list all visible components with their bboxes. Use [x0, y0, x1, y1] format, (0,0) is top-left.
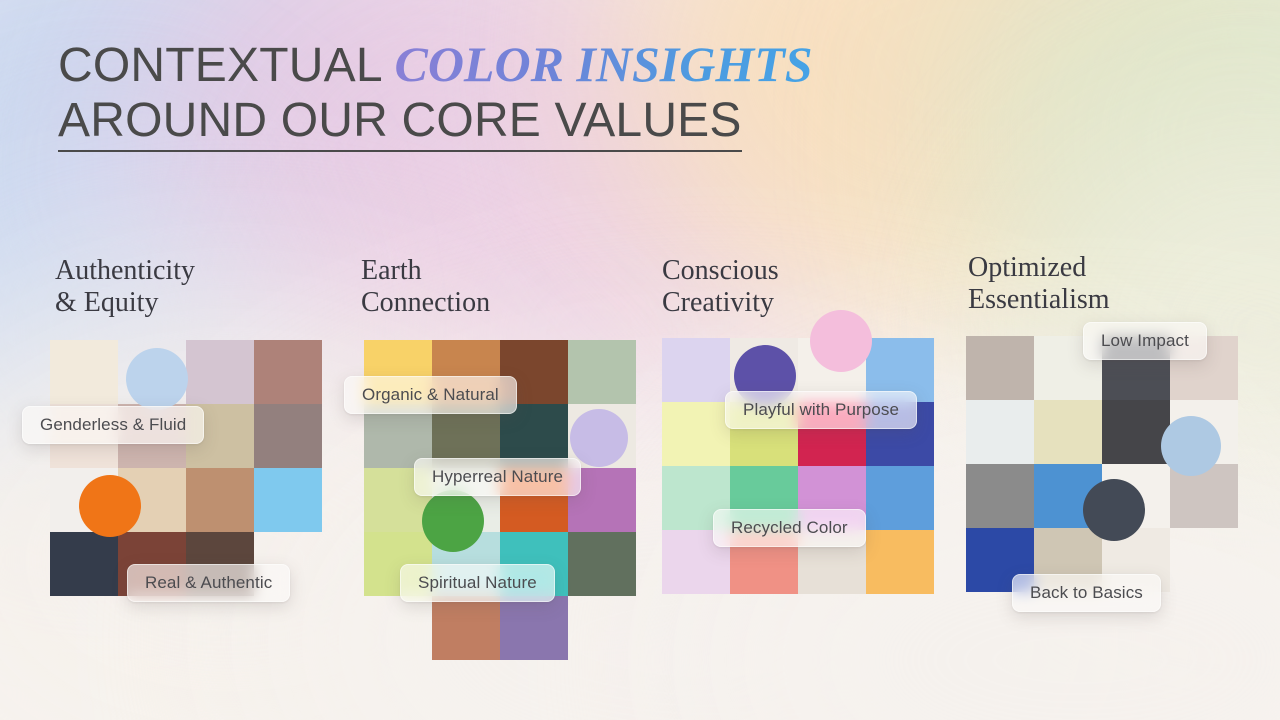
- palette-label-text: Genderless & Fluid: [40, 415, 186, 435]
- title-line-1: CONTEXTUAL COLOR INSIGHTS: [58, 38, 813, 92]
- light-blue-circle: [1161, 416, 1221, 476]
- color-swatch-empty: [364, 596, 432, 660]
- light-blue-circle: [126, 348, 188, 410]
- color-swatch: [866, 466, 934, 530]
- palette-label-pill[interactable]: Spiritual Nature: [400, 564, 555, 602]
- column-heading-text: Conscious Creativity: [662, 255, 779, 319]
- palette-label-pill[interactable]: Playful with Purpose: [725, 391, 917, 429]
- color-swatch: [186, 468, 254, 532]
- title-main-text: CONTEXTUAL: [58, 39, 394, 92]
- palette-label-pill[interactable]: Organic & Natural: [344, 376, 517, 414]
- palette-label-pill[interactable]: Back to Basics: [1012, 574, 1161, 612]
- palette-label-pill[interactable]: Real & Authentic: [127, 564, 290, 602]
- green-circle: [422, 490, 484, 552]
- color-swatch: [500, 596, 568, 660]
- dark-navy-circle: [1083, 479, 1145, 541]
- column-heading-text: Authenticity & Equity: [55, 255, 195, 319]
- palette-label-pill[interactable]: Genderless & Fluid: [22, 406, 204, 444]
- column-heading-text: Earth Connection: [361, 255, 490, 319]
- palette-label-pill[interactable]: Recycled Color: [713, 509, 866, 547]
- color-swatch: [966, 464, 1034, 528]
- palette-label-text: Spiritual Nature: [418, 573, 537, 593]
- color-swatch: [50, 532, 118, 596]
- column-heading-conscious-creativity: Conscious Creativity: [662, 255, 779, 319]
- slide-canvas: CONTEXTUAL COLOR INSIGHTS AROUND OUR COR…: [0, 0, 1280, 720]
- column-heading-text: Optimized Essentialism: [968, 252, 1110, 316]
- page-title: CONTEXTUAL COLOR INSIGHTS AROUND OUR COR…: [58, 38, 813, 152]
- orange-circle: [79, 475, 141, 537]
- color-swatch: [866, 530, 934, 594]
- column-heading-authenticity-equity: Authenticity & Equity: [55, 255, 195, 319]
- color-swatch: [966, 336, 1034, 400]
- color-swatch: [1102, 400, 1170, 464]
- color-swatch: [568, 532, 636, 596]
- title-subtitle-text: AROUND OUR CORE VALUES: [58, 96, 742, 152]
- palette-label-pill[interactable]: Low Impact: [1083, 322, 1207, 360]
- color-swatch: [50, 340, 118, 404]
- color-swatch: [254, 468, 322, 532]
- color-swatch-empty: [568, 596, 636, 660]
- palette-label-text: Real & Authentic: [145, 573, 272, 593]
- color-swatch: [662, 338, 730, 402]
- color-swatch: [966, 400, 1034, 464]
- palette-label-text: Recycled Color: [731, 518, 848, 538]
- pink-circle: [810, 310, 872, 372]
- column-heading-optimized-essentialism: Optimized Essentialism: [968, 252, 1110, 316]
- swatch-grid-conscious-creativity: [662, 338, 934, 594]
- palette-label-pill[interactable]: Hyperreal Nature: [414, 458, 581, 496]
- palette-label-text: Playful with Purpose: [743, 400, 899, 420]
- color-swatch: [186, 340, 254, 404]
- color-swatch-empty: [1170, 528, 1238, 592]
- color-swatch: [254, 404, 322, 468]
- color-swatch: [432, 596, 500, 660]
- title-accent-text: COLOR INSIGHTS: [394, 36, 812, 92]
- lavender-circle: [570, 409, 628, 467]
- color-swatch: [1034, 400, 1102, 464]
- palette-label-text: Low Impact: [1101, 331, 1189, 351]
- palette-label-text: Organic & Natural: [362, 385, 499, 405]
- palette-label-text: Back to Basics: [1030, 583, 1143, 603]
- color-swatch: [568, 340, 636, 404]
- color-swatch: [254, 340, 322, 404]
- column-heading-earth-connection: Earth Connection: [361, 255, 490, 319]
- color-swatch: [662, 402, 730, 466]
- title-line-2-wrap: AROUND OUR CORE VALUES: [58, 92, 813, 152]
- palette-label-text: Hyperreal Nature: [432, 467, 563, 487]
